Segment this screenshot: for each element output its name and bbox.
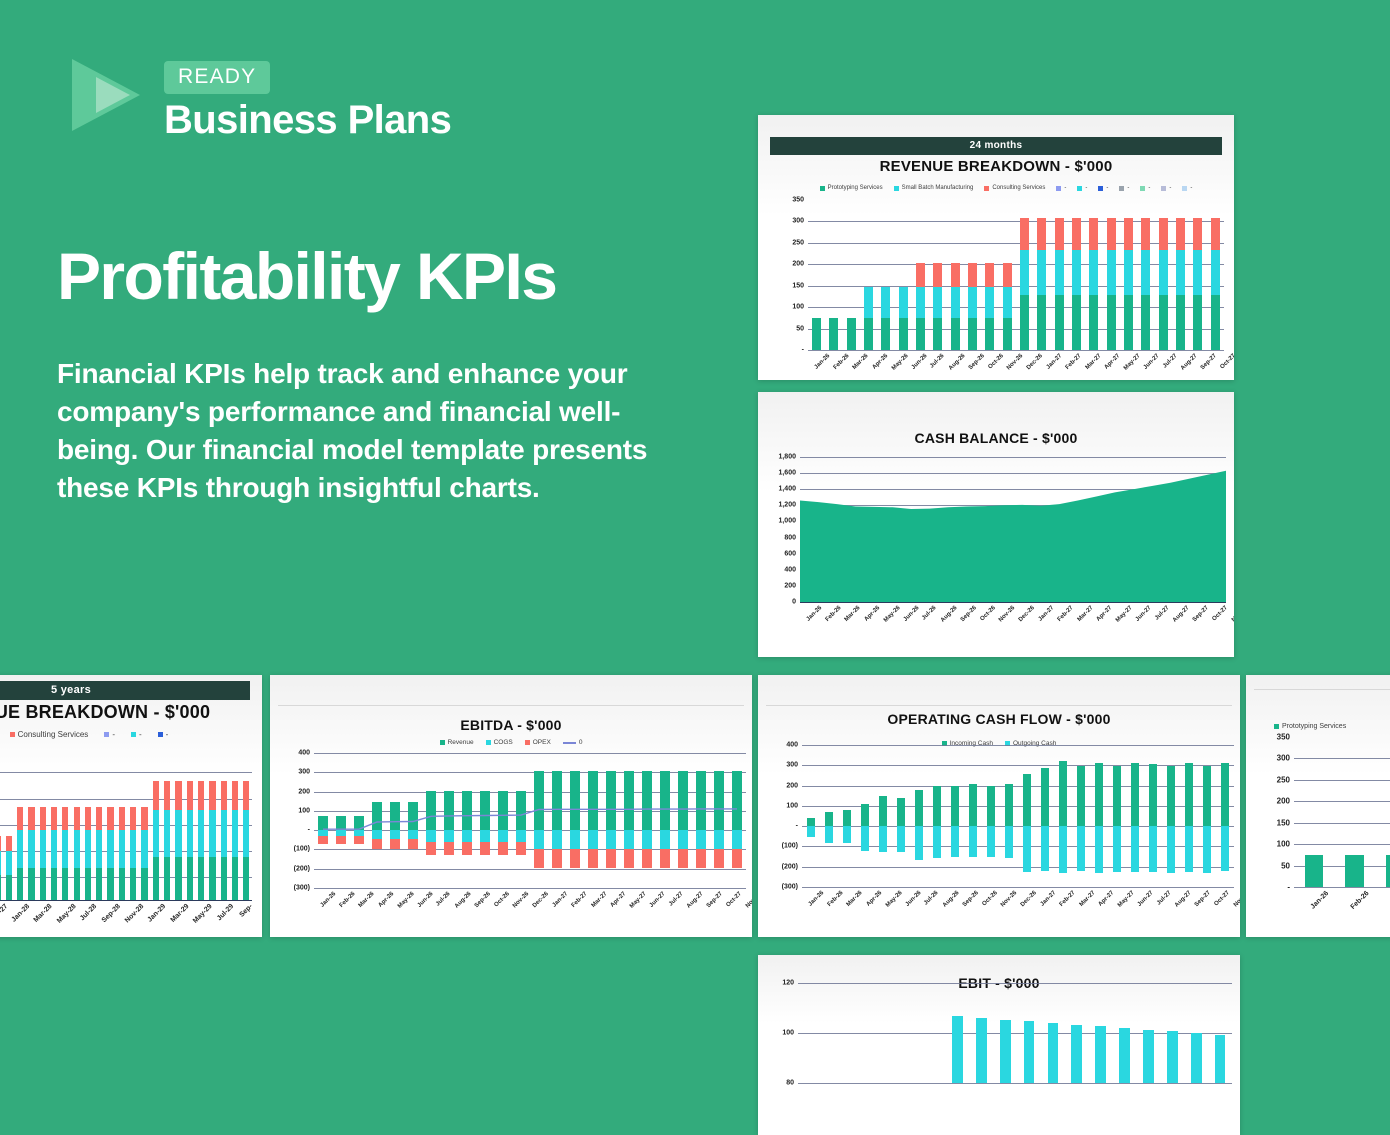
bar-segment: [1107, 295, 1116, 350]
bar-segment: [221, 857, 227, 901]
bar-column: [1162, 745, 1180, 887]
chart-plot-prototyping: -50100150200250300350Jan-26Feb-26Mar-26A…: [1294, 737, 1390, 887]
bar-segment: [1185, 826, 1193, 872]
chart-legend-prototyping: Prototyping Services: [1274, 723, 1390, 730]
bar-segment: [0, 836, 1, 851]
legend-swatch: [525, 740, 530, 745]
legend-item: -: [131, 730, 142, 739]
bar-segment: [987, 786, 995, 826]
bar-column: [82, 755, 93, 900]
bar-column: [1160, 983, 1184, 1083]
bar-segment: [153, 781, 159, 810]
legend-label: Consulting Services: [992, 185, 1045, 191]
bar-column: [964, 745, 982, 887]
bar-column: [1375, 737, 1390, 887]
legend-label: Small Batch Manufacturing: [902, 185, 974, 191]
bar-segment: [1211, 250, 1220, 295]
bar-segment: [130, 807, 136, 830]
bar-segment: [40, 868, 46, 900]
legend-label: -: [1190, 185, 1192, 191]
bar-segment: [1095, 826, 1103, 873]
legend-swatch: [820, 186, 825, 191]
bar-segment: [968, 318, 977, 350]
bar-segment: [232, 810, 238, 856]
bar-segment: [6, 875, 12, 900]
bar-segment: [1000, 1020, 1011, 1083]
bar-segment: [1020, 250, 1029, 295]
bar-segment: [1131, 826, 1139, 872]
bar-segment: [209, 810, 215, 856]
bar-segment: [85, 807, 91, 830]
bar-segment: [96, 807, 102, 830]
bar-segment: [243, 857, 249, 901]
y-axis-tick-label: 600: [784, 550, 796, 557]
bar-segment: [1386, 855, 1390, 887]
legend-item: -: [1056, 185, 1066, 191]
legend-label: -: [166, 730, 169, 739]
bar-segment: [74, 830, 80, 868]
chart-plot-revenue-24: -50100150200250300350Jan-26Feb-26Mar-26A…: [808, 200, 1224, 350]
bar-segment: [1041, 768, 1049, 826]
bar-segment: [17, 830, 23, 868]
period-badge-5-years: 5 years: [0, 681, 250, 700]
y-axis-tick-label: (100): [294, 846, 310, 853]
chart-title-ocf: OPERATING CASH FLOW - $'000: [758, 711, 1240, 727]
bar-segment: [969, 784, 977, 826]
bar-segment: [1107, 250, 1116, 295]
bar-series-group: [1294, 737, 1390, 887]
chart-title-revenue-24: REVENUE BREAKDOWN - $'000: [758, 158, 1234, 175]
page-title: Profitability KPIs: [57, 242, 556, 311]
y-axis-tick-label: (200): [294, 865, 310, 872]
y-axis-tick-label: 1,000: [778, 518, 796, 525]
y-axis-tick-label: 50: [1281, 861, 1290, 870]
bar-column: [825, 200, 842, 350]
bar-column: [1054, 745, 1072, 887]
y-axis-tick-label: 400: [298, 750, 310, 757]
bar-segment: [1113, 826, 1121, 872]
bar-segment: [1185, 763, 1193, 826]
bar-segment: [175, 810, 181, 856]
legend-item: -: [104, 730, 115, 739]
bar-segment: [976, 1018, 987, 1083]
y-axis-tick-label: 350: [792, 197, 804, 204]
legend-item: COGS: [486, 739, 513, 746]
bar-segment: [1055, 295, 1064, 350]
y-axis-tick-label: 1,600: [778, 470, 796, 477]
y-axis-tick-label: 150: [1277, 818, 1290, 827]
bar-segment: [1003, 263, 1012, 288]
bar-segment: [985, 318, 994, 350]
bar-segment: [881, 318, 890, 350]
bar-segment: [62, 868, 68, 900]
bar-segment: [864, 287, 873, 317]
bar-segment: [28, 830, 34, 868]
y-axis-tick-label: 100: [298, 807, 310, 814]
bar-segment: [221, 810, 227, 856]
y-axis-tick-label: 250: [792, 239, 804, 246]
bar-segment: [17, 868, 23, 900]
bar-segment: [74, 868, 80, 900]
bar-segment: [1020, 295, 1029, 350]
bar-segment: [933, 318, 942, 350]
y-axis-tick-label: 150: [792, 282, 804, 289]
legend-label: -: [1169, 185, 1171, 191]
bar-segment: [951, 318, 960, 350]
legend-item: -: [1161, 185, 1171, 191]
bar-segment: [899, 318, 908, 350]
bar-segment: [85, 868, 91, 900]
bar-column: [981, 200, 998, 350]
chart-title-revenue-5y: REVENUE BREAKDOWN - $'000: [0, 702, 262, 723]
bar-segment: [187, 781, 193, 810]
y-axis-tick-label: 350: [1277, 733, 1290, 742]
y-axis-tick-label: (100): [782, 843, 798, 850]
x-axis-labels: Jan-26Feb-26Mar-26Apr-26May-26Jun-26Jul-…: [802, 887, 1234, 896]
bar-segment: [107, 868, 113, 900]
bar-column: [856, 745, 874, 887]
bar-column: [207, 755, 218, 900]
legend-label: Consulting Services: [18, 730, 89, 739]
y-axis-tick-label: 1,800: [778, 454, 796, 461]
bar-column: [1172, 200, 1189, 350]
bar-segment: [96, 868, 102, 900]
bar-segment: [1203, 766, 1211, 827]
bar-column: [1041, 983, 1065, 1083]
chart-plot-revenue-5y: Mar-27May-27Jul-27Sep-27Nov-27Jan-28Mar-…: [0, 755, 252, 900]
legend-label: Prototyping Services: [1282, 723, 1346, 730]
chart-card-revenue-24-months[interactable]: 24 months REVENUE BREAKDOWN - $'000 Prot…: [758, 115, 1234, 380]
bar-segment: [933, 287, 942, 317]
legend-label: -: [1106, 185, 1108, 191]
bar-column: [48, 755, 59, 900]
bar-segment: [825, 812, 833, 827]
bar-segment: [1055, 250, 1064, 295]
bar-segment: [1095, 1026, 1106, 1083]
y-axis-tick-label: 80: [786, 1080, 794, 1087]
bar-segment: [987, 826, 995, 857]
zero-line-series: [314, 753, 746, 888]
bar-column: [1090, 745, 1108, 887]
bar-series-group: [808, 200, 1224, 350]
bar-series-group: [0, 755, 252, 900]
bar-segment: [807, 818, 815, 827]
bar-segment: [0, 851, 1, 876]
brand-name: Business Plans: [164, 99, 451, 141]
bar-column: [843, 200, 860, 350]
bar-segment: [209, 857, 215, 901]
bar-segment: [1072, 250, 1081, 295]
bar-segment: [164, 781, 170, 810]
chart-title-ebitda: EBITDA - $'000: [270, 717, 752, 733]
bar-segment: [879, 826, 887, 852]
bar-column: [1103, 200, 1120, 350]
bar-segment: [916, 287, 925, 317]
bar-segment: [62, 807, 68, 830]
bar-column: [60, 755, 71, 900]
bar-segment: [198, 810, 204, 856]
bar-segment: [1107, 218, 1116, 249]
bar-segment: [141, 807, 147, 830]
bar-segment: [119, 868, 125, 900]
bar-segment: [933, 263, 942, 288]
legend-label: -: [1085, 185, 1087, 191]
bar-series-group: [798, 983, 1232, 1083]
bar-column: [946, 983, 970, 1083]
chart-card-revenue-5-years[interactable]: 5 years REVENUE BREAKDOWN - $'000 Small …: [0, 675, 262, 937]
bar-segment: [951, 826, 959, 857]
y-axis-tick-label: 100: [1277, 840, 1290, 849]
chart-plot-ebit: 80100120: [798, 983, 1232, 1083]
bar-segment: [141, 868, 147, 900]
bar-segment: [1023, 826, 1031, 872]
bar-segment: [1131, 763, 1139, 826]
bar-segment: [51, 807, 57, 830]
legend-item: -: [1098, 185, 1108, 191]
legend-swatch: [1098, 186, 1103, 191]
y-axis-tick-label: -: [1287, 883, 1290, 892]
bar-column: [969, 983, 993, 1083]
bar-segment: [221, 781, 227, 810]
chart-card-cash-balance[interactable]: CASH BALANCE - $'000 02004006008001,0001…: [758, 392, 1234, 657]
bar-segment: [951, 786, 959, 826]
chart-plot-cash-balance: 02004006008001,0001,2001,4001,6001,800Ja…: [800, 457, 1226, 602]
bar-segment: [187, 810, 193, 856]
bar-column: [964, 200, 981, 350]
bar-column: [1068, 200, 1085, 350]
bar-column: [1208, 983, 1232, 1083]
bar-column: [929, 200, 946, 350]
bar-column: [1085, 200, 1102, 350]
chart-plot-ebitda: (300)(200)(100)-100200300400Jan-26Feb-26…: [314, 753, 746, 888]
legend-label: -: [1127, 185, 1129, 191]
bar-segment: [243, 810, 249, 856]
y-axis-tick-label: 300: [1277, 754, 1290, 763]
bar-segment: [130, 830, 136, 868]
legend-swatch: [10, 732, 15, 737]
bar-column: [1108, 745, 1126, 887]
bar-column: [241, 755, 252, 900]
bar-segment: [17, 807, 23, 830]
bar-column: [874, 745, 892, 887]
legend-label: -: [1148, 185, 1150, 191]
bar-column: [1000, 745, 1018, 887]
bar-column: [1018, 745, 1036, 887]
bar-segment: [1059, 826, 1067, 873]
legend-item: Small Batch Manufacturing: [894, 185, 974, 191]
bar-segment: [232, 857, 238, 901]
play-triangle-icon: [72, 59, 150, 131]
y-axis-tick-label: (200): [782, 863, 798, 870]
bar-column: [1036, 745, 1054, 887]
legend-item: Prototyping Services: [1274, 723, 1346, 730]
y-axis-tick-label: 100: [786, 802, 798, 809]
chart-card-ebitda[interactable]: EBITDA - $'000 RevenueCOGSOPEX0 (300)(20…: [270, 675, 752, 937]
bar-segment: [969, 826, 977, 857]
y-axis-tick-label: -: [308, 827, 310, 834]
legend-item: -: [1077, 185, 1087, 191]
bar-segment: [1072, 218, 1081, 249]
bar-segment: [1167, 826, 1175, 872]
bar-segment: [74, 807, 80, 830]
y-axis-tick-label: 200: [298, 788, 310, 795]
ready-badge: READY: [164, 61, 270, 94]
bar-segment: [933, 826, 941, 857]
bar-segment: [6, 836, 12, 851]
bar-column: [1120, 200, 1137, 350]
chart-card-operating-cash-flow[interactable]: OPERATING CASH FLOW - $'000 Incoming Cas…: [758, 675, 1240, 937]
bar-segment: [153, 810, 159, 856]
bar-segment: [847, 318, 856, 350]
bar-segment: [107, 830, 113, 868]
y-axis-tick-label: 1,400: [778, 486, 796, 493]
gridline: [798, 1083, 1232, 1084]
bar-segment: [107, 807, 113, 830]
legend-label: Revenue: [448, 739, 474, 746]
y-axis-tick-label: 200: [792, 261, 804, 268]
bar-segment: [1141, 295, 1150, 350]
legend-item: -: [158, 730, 169, 739]
chart-card-prototyping[interactable]: Prototyping Services -501001502002503003…: [1246, 675, 1390, 937]
bar-segment: [1221, 826, 1229, 871]
legend-swatch: [894, 186, 899, 191]
bar-segment: [1113, 766, 1121, 826]
bar-column: [912, 200, 929, 350]
bar-column: [1113, 983, 1137, 1083]
bar-segment: [1159, 218, 1168, 249]
y-axis-tick-label: 300: [792, 218, 804, 225]
bar-segment: [40, 830, 46, 868]
legend-swatch: [1140, 186, 1145, 191]
bar-segment: [51, 868, 57, 900]
bar-column: [184, 755, 195, 900]
legend-label: -: [112, 730, 115, 739]
legend-swatch: [1161, 186, 1166, 191]
bar-segment: [243, 781, 249, 810]
y-axis-tick-label: 400: [784, 566, 796, 573]
bar-column: [162, 755, 173, 900]
bar-segment: [175, 781, 181, 810]
bar-segment: [28, 868, 34, 900]
bar-segment: [1193, 250, 1202, 295]
cash-balance-area: [800, 457, 1226, 602]
bar-segment: [175, 857, 181, 901]
bar-column: [1137, 983, 1161, 1083]
bar-segment: [1037, 295, 1046, 350]
bar-column: [999, 200, 1016, 350]
bar-segment: [1089, 250, 1098, 295]
bar-segment: [915, 826, 923, 859]
legend-label: 0: [579, 739, 583, 746]
bar-segment: [879, 796, 887, 826]
y-axis-tick-label: (300): [294, 885, 310, 892]
bar-column: [14, 755, 25, 900]
bar-segment: [1193, 295, 1202, 350]
bar-segment: [1020, 218, 1029, 249]
bar-column: [820, 745, 838, 887]
bar-column: [946, 745, 964, 887]
bar-column: [139, 755, 150, 900]
chart-card-ebit[interactable]: EBIT - $'000 80100120: [758, 955, 1240, 1135]
bar-segment: [812, 318, 821, 350]
bar-segment: [0, 875, 1, 900]
bar-column: [3, 755, 14, 900]
legend-item: Revenue: [440, 739, 474, 746]
bar-segment: [119, 830, 125, 868]
bar-segment: [825, 826, 833, 843]
bar-column: [218, 755, 229, 900]
bar-segment: [1159, 295, 1168, 350]
bar-segment: [1305, 855, 1324, 887]
bar-segment: [28, 807, 34, 830]
bar-segment: [916, 263, 925, 288]
bar-segment: [1005, 826, 1013, 858]
legend-swatch: [1056, 186, 1061, 191]
brand-logo: READY Business Plans: [72, 55, 451, 141]
bar-segment: [916, 318, 925, 350]
bar-segment: [1072, 295, 1081, 350]
bar-column: [808, 200, 825, 350]
legend-label: OPEX: [533, 739, 551, 746]
legend-swatch: [984, 186, 989, 191]
bar-column: [838, 745, 856, 887]
legend-label: -: [1064, 185, 1066, 191]
bar-segment: [829, 318, 838, 350]
bar-segment: [187, 857, 193, 901]
y-axis-tick-label: 200: [786, 782, 798, 789]
legend-label: COGS: [494, 739, 513, 746]
bar-column: [1155, 200, 1172, 350]
bar-column: [116, 755, 127, 900]
bar-column: [128, 755, 139, 900]
bar-column: [947, 200, 964, 350]
bar-segment: [843, 826, 851, 843]
bar-column: [229, 755, 240, 900]
bar-segment: [1159, 250, 1168, 295]
legend-item: Consulting Services: [984, 185, 1045, 191]
y-axis-tick-label: 200: [784, 582, 796, 589]
bar-segment: [899, 287, 908, 317]
bar-column: [1072, 745, 1090, 887]
bar-column: [173, 755, 184, 900]
y-axis-tick-label: 100: [792, 304, 804, 311]
bar-column: [1033, 200, 1050, 350]
bar-segment: [164, 857, 170, 901]
legend-item: -: [1140, 185, 1150, 191]
bar-segment: [1124, 295, 1133, 350]
x-axis-labels: Jan-26Feb-26Mar-26Apr-26May-26Jun-26Jul-…: [800, 602, 1226, 611]
bar-segment: [985, 263, 994, 288]
x-axis-labels: Jan-26Feb-26Mar-26Apr-26May-: [1294, 887, 1390, 897]
bar-segment: [209, 781, 215, 810]
bar-segment: [1221, 763, 1229, 826]
y-axis-tick-label: 1,200: [778, 502, 796, 509]
bar-column: [1207, 200, 1224, 350]
bar-segment: [1003, 318, 1012, 350]
bar-segment: [1141, 250, 1150, 295]
bar-segment: [861, 804, 869, 826]
bar-segment: [198, 857, 204, 901]
chart-legend-revenue-24: Prototyping ServicesSmall Batch Manufact…: [788, 185, 1224, 191]
legend-swatch: [104, 732, 109, 737]
legend-item: Prototyping Services: [820, 185, 883, 191]
bar-segment: [1024, 1021, 1035, 1083]
bar-segment: [1124, 218, 1133, 249]
legend-label: -: [139, 730, 142, 739]
bar-segment: [40, 807, 46, 830]
y-axis-tick-label: 400: [786, 742, 798, 749]
bar-segment: [807, 826, 815, 837]
